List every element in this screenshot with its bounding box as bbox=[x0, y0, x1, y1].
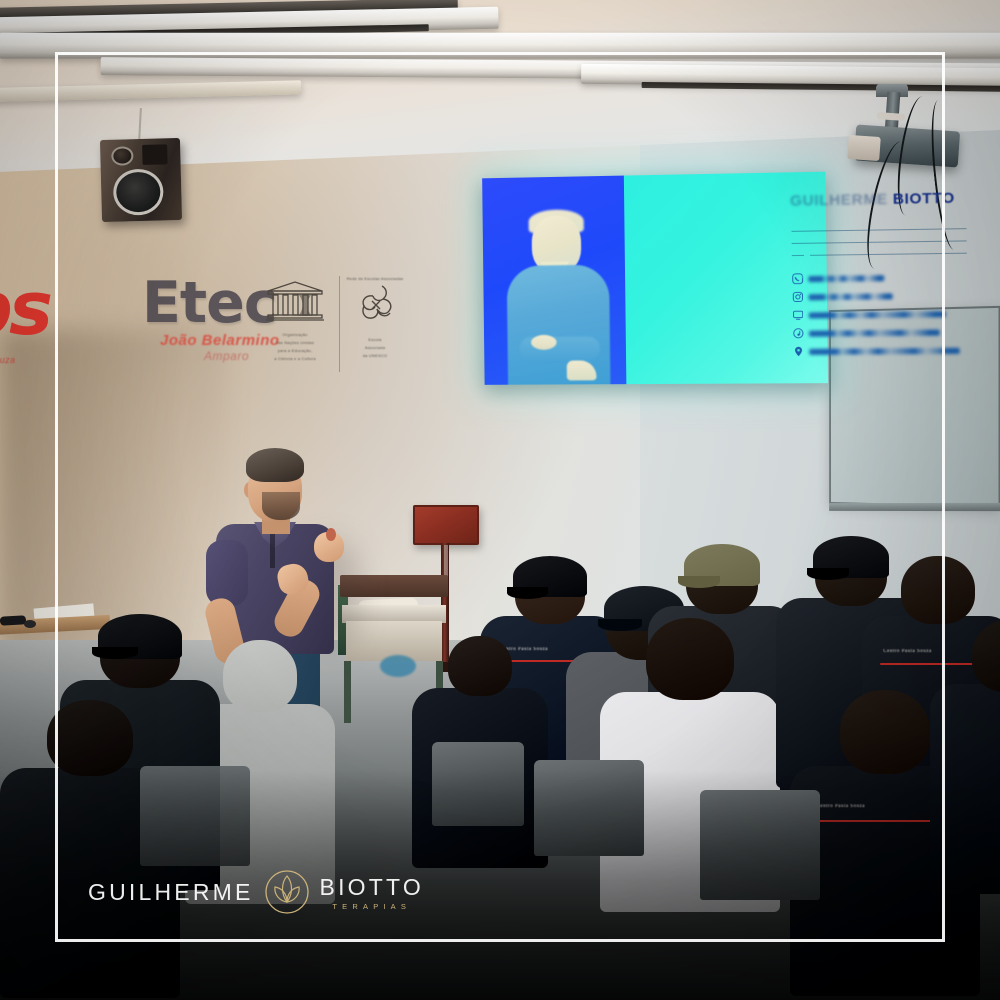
presenter-beard bbox=[262, 492, 300, 520]
ceiling-beam-5 bbox=[0, 80, 301, 103]
unesco-logo: Organização das Nações Unidas para a Edu… bbox=[256, 280, 334, 361]
bench-blue-object bbox=[380, 655, 416, 677]
unesco-associated-schools-logo: Rede de Escolas Associadas Escola Associ… bbox=[344, 276, 406, 358]
contact-text-address bbox=[809, 347, 960, 354]
instagram-icon bbox=[792, 291, 803, 302]
unesco-temple-icon bbox=[264, 280, 326, 324]
cps-subtitle-line2: Paula Souza bbox=[0, 355, 70, 366]
student-head bbox=[47, 700, 133, 776]
student-head bbox=[223, 640, 297, 712]
student-far-right bbox=[930, 620, 1000, 902]
presenter-sleeve-left bbox=[206, 540, 248, 606]
lotus-leaf-circle-icon bbox=[263, 868, 311, 916]
slide-rule-3a bbox=[792, 255, 804, 256]
watermark-word-left: GUILHERME bbox=[88, 879, 254, 906]
desk-object-round bbox=[24, 620, 36, 628]
cps-mark: ps bbox=[0, 278, 70, 340]
speaker-port bbox=[142, 144, 168, 165]
music-note-icon bbox=[793, 328, 804, 339]
contact-row-whatsapp bbox=[792, 271, 972, 284]
chair-4 bbox=[140, 766, 250, 866]
watermark-word-right: BIOTTO bbox=[320, 874, 424, 901]
student-head bbox=[646, 618, 734, 700]
watermark-right-block: BIOTTO TERAPIAS bbox=[320, 874, 424, 911]
projection-screen: GUILHERME BIOTTO bbox=[482, 172, 828, 385]
location-pin-icon bbox=[793, 346, 804, 357]
contact-text-instagram bbox=[809, 293, 893, 300]
unesco-caption-line3: para a Educação, bbox=[256, 348, 334, 353]
projector-lens bbox=[847, 135, 881, 161]
unesco-emblem-caption-top: Rede de Escolas Associadas bbox=[344, 276, 406, 281]
unesco-caption-line4: a Ciência e a Cultura bbox=[256, 356, 334, 361]
cps-subtitle-line1: Centro bbox=[0, 342, 70, 353]
unesco-emblem-caption-line3: da UNESCO bbox=[344, 353, 406, 358]
speaker-tweeter bbox=[111, 146, 133, 166]
whiteboard-ledge bbox=[829, 503, 1000, 511]
portrait-body bbox=[507, 265, 611, 385]
contact-text-whatsapp bbox=[808, 275, 884, 282]
photo-canvas: ps Centro Paula Souza Etec João Belarmin… bbox=[0, 0, 1000, 1000]
unesco-emblem-caption-line2: Associada bbox=[344, 345, 406, 350]
student-head bbox=[901, 556, 975, 624]
student-body bbox=[930, 684, 1000, 894]
wall-signage: ps Centro Paula Souza Etec João Belarmin… bbox=[0, 276, 440, 388]
slide-title: GUILHERME BIOTTO bbox=[790, 189, 963, 209]
unesco-emblem-caption-line1: Escola bbox=[344, 337, 406, 342]
student-cap-brim bbox=[807, 568, 849, 580]
student-cap-brim bbox=[507, 587, 548, 599]
uniform-text: Centro Paula Souza bbox=[817, 804, 865, 809]
speaker-portrait-illustration bbox=[500, 209, 612, 385]
ceiling-beam-2 bbox=[0, 33, 1000, 59]
unesco-caption-line1: Organização bbox=[256, 332, 334, 337]
cps-logo: ps Centro Paula Souza bbox=[0, 278, 70, 382]
slide-info-panel: GUILHERME BIOTTO bbox=[624, 172, 828, 385]
unesco-associated-schools-icon bbox=[352, 283, 398, 329]
slide-title-last: BIOTTO bbox=[893, 190, 955, 208]
presenter-thumb bbox=[326, 528, 336, 541]
uniform-stripe bbox=[813, 820, 942, 822]
uniform-text: Centro Paula Souza bbox=[883, 649, 931, 654]
red-sign-board bbox=[413, 505, 479, 545]
signage-divider bbox=[339, 276, 340, 372]
unesco-caption-line2: das Nações Unidas bbox=[256, 340, 334, 345]
chair-3 bbox=[700, 790, 820, 900]
slide-photo-panel bbox=[482, 176, 626, 385]
watermark-subtitle: TERAPIAS bbox=[332, 902, 411, 911]
watermark-logo: GUILHERME BIOTTO TERAPIAS bbox=[88, 866, 378, 918]
slide-contact-list bbox=[792, 271, 973, 364]
whatsapp-icon bbox=[792, 273, 803, 284]
speaker-woofer bbox=[113, 168, 164, 215]
contact-row-music bbox=[793, 326, 973, 339]
contact-text-music bbox=[809, 329, 940, 336]
chair-1 bbox=[432, 742, 524, 826]
contact-row-address bbox=[793, 345, 973, 357]
wall-speaker bbox=[100, 138, 182, 222]
contact-row-site bbox=[792, 308, 972, 321]
student-head bbox=[840, 690, 930, 774]
student-head bbox=[972, 620, 1000, 692]
student-head bbox=[448, 636, 512, 696]
monitor-icon bbox=[792, 309, 803, 320]
desk-object-dark bbox=[0, 615, 26, 625]
contact-text-site bbox=[809, 311, 946, 318]
chair-2 bbox=[534, 760, 644, 856]
presenter-hair bbox=[246, 448, 304, 482]
presenter-placket bbox=[270, 534, 275, 568]
slide-title-first: GUILHERME bbox=[790, 191, 888, 210]
contact-row-instagram bbox=[792, 289, 972, 302]
student-cap-brim bbox=[678, 576, 720, 588]
